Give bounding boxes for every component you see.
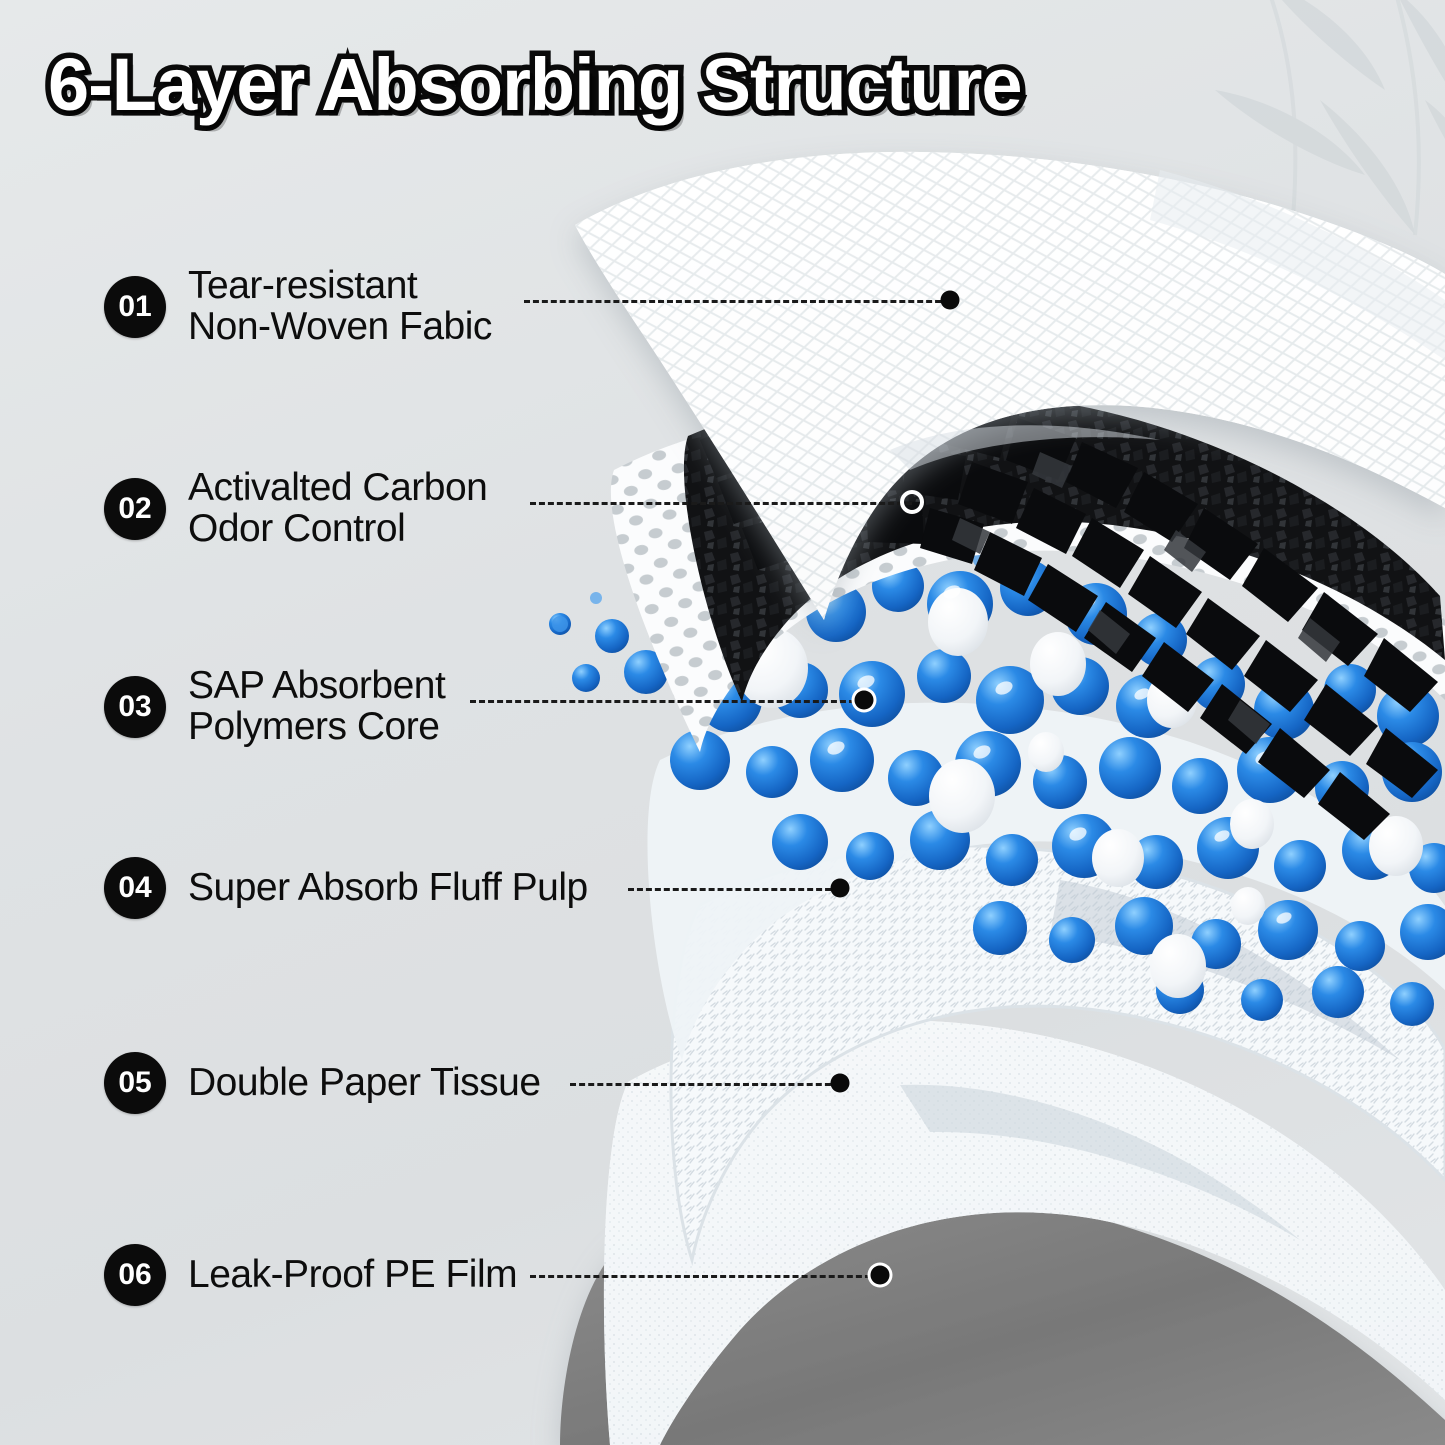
layer-sap-beads — [549, 553, 1445, 1060]
layer-label-05-line1: Double Paper Tissue — [188, 1061, 541, 1104]
layer-label-06: Leak-Proof PE Film — [188, 1255, 517, 1296]
callout-01: 01 Tear-resistant Non-Woven Fabic — [104, 266, 492, 348]
layer-label-01: Tear-resistant Non-Woven Fabic — [188, 266, 492, 348]
layer-badge-05: 05 — [104, 1052, 166, 1114]
layer-badge-02: 02 — [104, 478, 166, 540]
layer-label-01-line1: Tear-resistant — [188, 264, 417, 307]
callout-03: 03 SAP Absorbent Polymers Core — [104, 666, 445, 748]
leader-line-02 — [530, 502, 912, 505]
callout-06: 06 Leak-Proof PE Film — [104, 1244, 517, 1306]
layer-badge-04: 04 — [104, 857, 166, 919]
bamboo-leaves-icon — [965, 0, 1445, 400]
leader-line-05 — [570, 1083, 840, 1086]
layer-badge-06: 06 — [104, 1244, 166, 1306]
layer-label-04-line1: Super Absorb Fluff Pulp — [188, 866, 588, 909]
leader-line-06 — [530, 1275, 880, 1278]
leader-line-03 — [470, 700, 864, 703]
leader-dot-03 — [855, 691, 874, 710]
layer-label-01-line2: Non-Woven Fabic — [188, 307, 492, 348]
layer-pe-film — [560, 1189, 1445, 1445]
layer-label-06-line1: Leak-Proof PE Film — [188, 1253, 517, 1296]
layer-badge-03: 03 — [104, 676, 166, 738]
leader-dot-05 — [831, 1074, 850, 1093]
leader-dot-02 — [900, 490, 924, 514]
leader-dot-04 — [831, 879, 850, 898]
layer-label-04: Super Absorb Fluff Pulp — [188, 868, 588, 909]
leader-line-01 — [524, 300, 950, 303]
layer-fluff-pulp — [671, 846, 1445, 1260]
callout-05: 05 Double Paper Tissue — [104, 1052, 541, 1114]
layer-badge-01: 01 — [104, 276, 166, 338]
layer-label-05: Double Paper Tissue — [188, 1063, 541, 1104]
layer-label-02-line2: Odor Control — [188, 509, 487, 550]
layer-label-02: Activalted Carbon Odor Control — [188, 468, 487, 550]
infographic-canvas: 6-Layer Absorbing Structure 01 Tear-resi… — [0, 0, 1445, 1445]
layer-nonwoven-fabric — [575, 152, 1445, 620]
callout-04: 04 Super Absorb Fluff Pulp — [104, 857, 588, 919]
leader-dot-01 — [941, 291, 960, 310]
callout-02: 02 Activalted Carbon Odor Control — [104, 468, 487, 550]
leader-dot-06 — [871, 1266, 890, 1285]
layer-label-03-line2: Polymers Core — [188, 707, 445, 748]
layer-activated-carbon — [611, 391, 1445, 840]
leader-line-04 — [628, 888, 840, 891]
layer-label-03: SAP Absorbent Polymers Core — [188, 666, 445, 748]
layer-label-03-line1: SAP Absorbent — [188, 664, 445, 707]
layer-label-02-line1: Activalted Carbon — [188, 466, 487, 509]
page-title: 6-Layer Absorbing Structure — [48, 42, 1022, 127]
